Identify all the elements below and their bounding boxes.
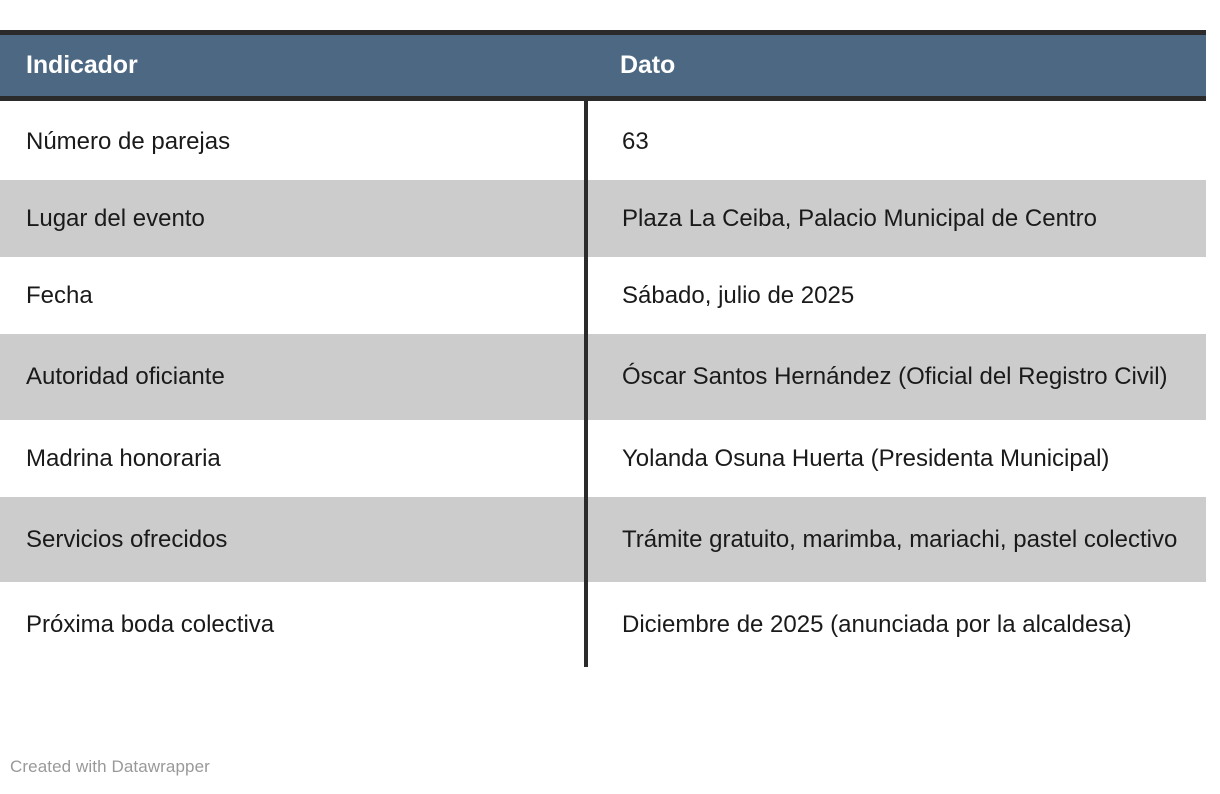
table-row: Lugar del evento Plaza La Ceiba, Palacio…: [0, 180, 1206, 257]
cell-indicador: Madrina honoraria: [0, 420, 586, 497]
cell-indicador: Fecha: [0, 257, 586, 334]
table-row: Autoridad oficiante Óscar Santos Hernánd…: [0, 334, 1206, 419]
table-header-row: Indicador Dato: [0, 33, 1206, 99]
datawrapper-credit[interactable]: Created with Datawrapper: [10, 757, 210, 777]
column-header-indicador[interactable]: Indicador: [0, 33, 586, 99]
cell-indicador: Servicios ofrecidos: [0, 497, 586, 582]
table-row: Próxima boda colectiva Diciembre de 2025…: [0, 582, 1206, 667]
data-table-container: Indicador Dato Número de parejas 63 Luga…: [0, 0, 1220, 794]
table-row: Madrina honoraria Yolanda Osuna Huerta (…: [0, 420, 1206, 497]
cell-indicador: Autoridad oficiante: [0, 334, 586, 419]
column-header-dato[interactable]: Dato: [586, 33, 1206, 99]
table-row: Fecha Sábado, julio de 2025: [0, 257, 1206, 334]
cell-dato: Trámite gratuito, marimba, mariachi, pas…: [586, 497, 1206, 582]
table-header: Indicador Dato: [0, 33, 1206, 99]
cell-indicador: Lugar del evento: [0, 180, 586, 257]
table-row: Servicios ofrecidos Trámite gratuito, ma…: [0, 497, 1206, 582]
cell-indicador: Número de parejas: [0, 98, 586, 180]
table-body: Número de parejas 63 Lugar del evento Pl…: [0, 98, 1206, 667]
cell-dato: Plaza La Ceiba, Palacio Municipal de Cen…: [586, 180, 1206, 257]
table-row: Número de parejas 63: [0, 98, 1206, 180]
cell-dato: Óscar Santos Hernández (Oficial del Regi…: [586, 334, 1206, 419]
indicator-data-table: Indicador Dato Número de parejas 63 Luga…: [0, 30, 1206, 667]
cell-dato: Diciembre de 2025 (anunciada por la alca…: [586, 582, 1206, 667]
cell-dato: Sábado, julio de 2025: [586, 257, 1206, 334]
cell-indicador: Próxima boda colectiva: [0, 582, 586, 667]
cell-dato: Yolanda Osuna Huerta (Presidenta Municip…: [586, 420, 1206, 497]
cell-dato: 63: [586, 98, 1206, 180]
